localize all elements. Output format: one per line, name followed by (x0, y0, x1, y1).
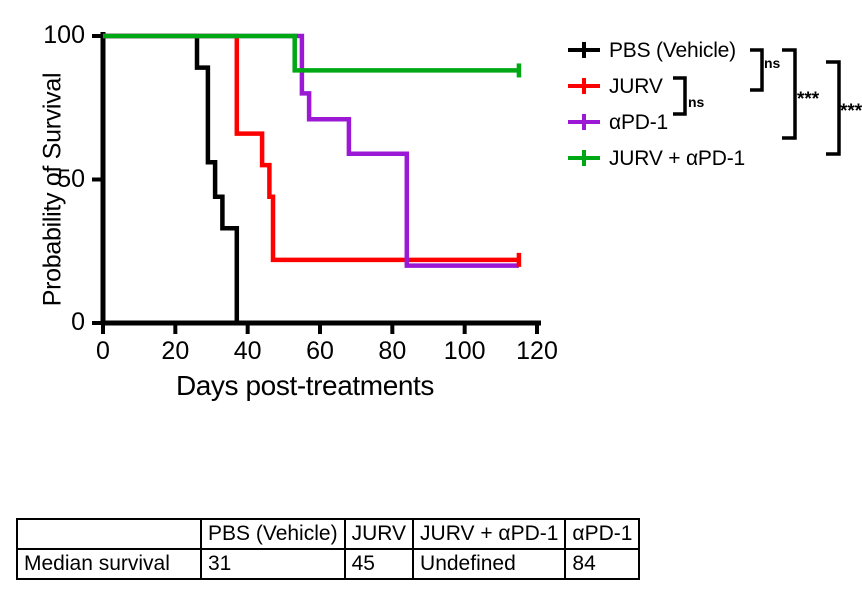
table-header-row: PBS (Vehicle) JURV JURV + αPD-1 αPD-1 (17, 519, 639, 549)
legend-pbs-swatch (568, 40, 600, 60)
legend-pbs-label: PBS (Vehicle) (609, 40, 736, 61)
x-tick-label-100: 100 (435, 339, 495, 364)
bracket-outer-stars (826, 62, 839, 154)
series-line-pbs-vehicle (103, 36, 237, 323)
legend-apd1-swatch (568, 112, 600, 132)
median-survival-table: PBS (Vehicle) JURV JURV + αPD-1 αPD-1 Me… (16, 518, 640, 580)
sig-stars-mid: *** (797, 90, 819, 109)
figure-root: Probability of Survival Days post-treatm… (0, 0, 862, 596)
survival-chart: Probability of Survival Days post-treatm… (0, 0, 570, 420)
legend-jurv-apd1-swatch (568, 148, 600, 168)
series-line-jurv-pd-1 (103, 36, 519, 70)
table-header-pbs: PBS (Vehicle) (201, 519, 345, 549)
x-tick-label-20: 20 (145, 339, 205, 364)
cell-median-pbs: 31 (201, 549, 345, 579)
legend-apd1[interactable]: αPD-1 (568, 108, 668, 136)
legend: PBS (Vehicle)JURVαPD-1JURV + αPD-1 ns ns… (568, 36, 862, 176)
x-tick-label-120: 120 (507, 339, 567, 364)
x-tick-label-0: 0 (73, 339, 133, 364)
table-header-jurv-apd1: JURV + αPD-1 (413, 519, 565, 549)
y-tick-label-0: 0 (15, 310, 85, 335)
table-header-jurv: JURV (345, 519, 413, 549)
legend-jurv-swatch (568, 76, 600, 96)
x-tick-label-80: 80 (362, 339, 422, 364)
bracket-mid-stars (782, 50, 795, 138)
y-tick-label-100: 100 (15, 23, 85, 48)
x-tick-label-60: 60 (290, 339, 350, 364)
legend-jurv-apd1[interactable]: JURV + αPD-1 (568, 144, 745, 172)
cell-median-jurv-apd1: Undefined (413, 549, 565, 579)
sig-stars-outer: *** (840, 102, 862, 121)
bracket-jurv-vs-apd1 (673, 78, 685, 114)
x-tick-label-40: 40 (218, 339, 278, 364)
sig-label-ns-jurv-apd1: ns (688, 95, 704, 109)
legend-jurv-apd1-label: JURV + αPD-1 (609, 148, 745, 169)
legend-jurv-label: JURV (609, 76, 663, 97)
legend-pbs[interactable]: PBS (Vehicle) (568, 36, 736, 64)
table-header-apd1: αPD-1 (565, 519, 639, 549)
cell-median-jurv: 45 (345, 549, 413, 579)
sig-label-ns-pbs-jurv: ns (764, 56, 780, 70)
row-label-median-survival: Median survival (17, 549, 201, 579)
table-row: Median survival 31 45 Undefined 84 (17, 549, 639, 579)
cell-median-apd1: 84 (565, 549, 639, 579)
table-header-blank (17, 519, 201, 549)
bracket-pbs-vs-group (750, 50, 762, 90)
x-axis-label: Days post-treatments (70, 370, 540, 402)
legend-jurv[interactable]: JURV (568, 72, 663, 100)
legend-apd1-label: αPD-1 (609, 112, 668, 133)
y-tick-label-50: 50 (15, 167, 85, 192)
